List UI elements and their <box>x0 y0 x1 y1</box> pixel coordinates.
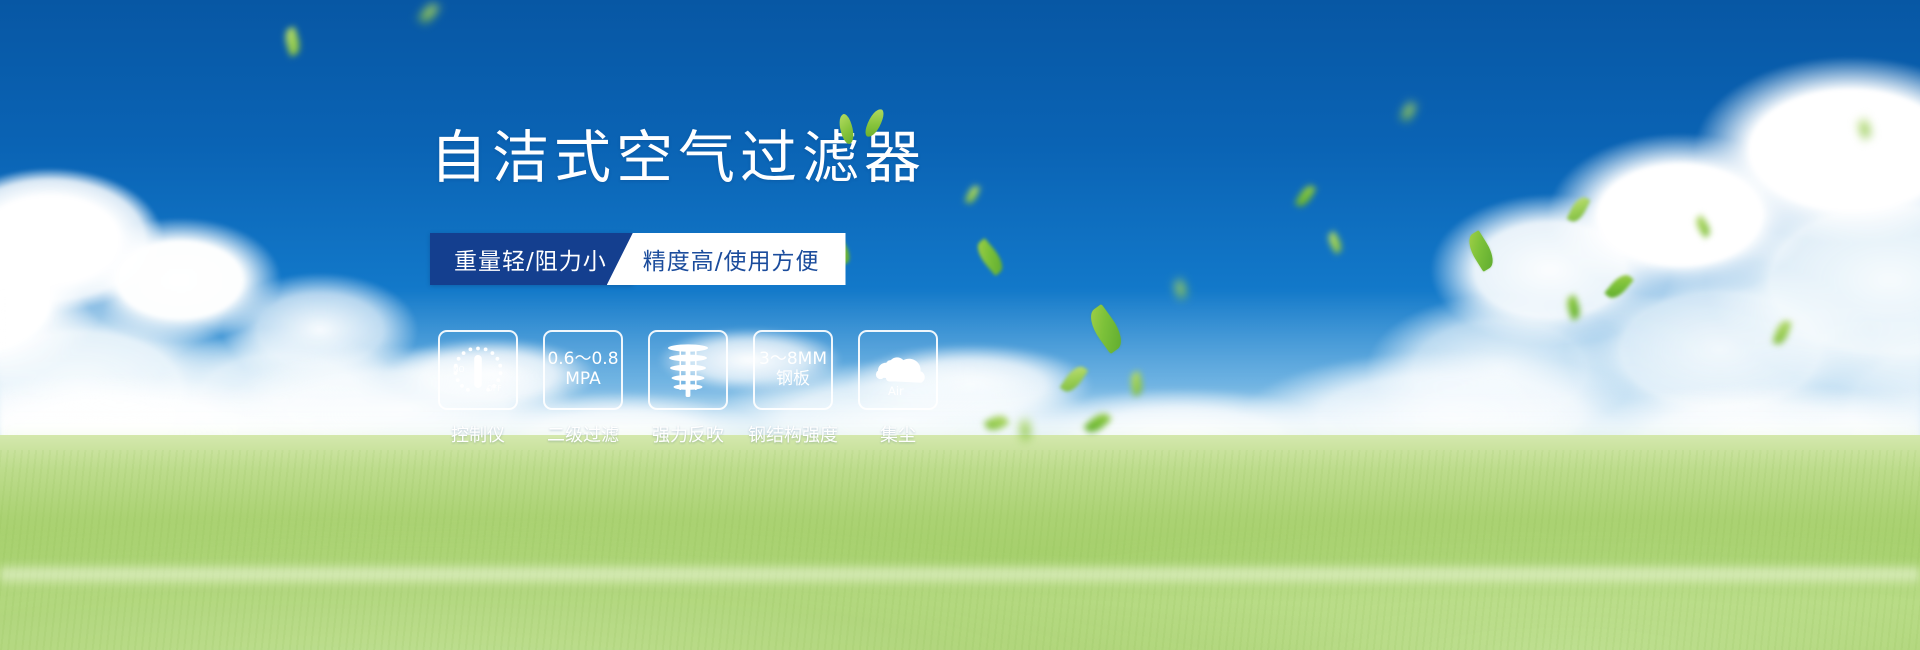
feature-item-controller[interactable]: NO OFF 控制仪 <box>438 330 518 447</box>
feature-box-controller[interactable]: NO OFF <box>438 330 518 410</box>
leaf-shape-right <box>864 107 886 140</box>
gauge-label-off: OFF <box>487 384 502 393</box>
banner-content: 自洁式空气过滤器 重量轻/阻力小 精度高/使用方便 <box>0 0 1920 650</box>
pressure-text-icon: 0.6～0.8 MPA <box>547 350 618 389</box>
feature-box-steel-strength[interactable]: 3～8MM 钢板 <box>753 330 833 410</box>
pressure-value: 0.6～0.8 <box>547 350 618 370</box>
feature-label-steel-strength: 钢结构强度 <box>748 421 838 447</box>
feature-icon-row: NO OFF 控制仪 0.6～0.8 MPA 二级过滤 <box>438 330 938 447</box>
cloud-air-label: Air <box>888 384 904 398</box>
hero-banner: 自洁式空气过滤器 重量轻/阻力小 精度高/使用方便 <box>0 0 1920 650</box>
gauge-label-no: NO <box>453 365 465 374</box>
two-leaves-icon <box>838 108 898 144</box>
steel-material: 钢板 <box>759 370 827 390</box>
cloud-air-icon: Air <box>866 340 930 400</box>
badge-highprecision-easyuse[interactable]: 精度高/使用方便 <box>607 233 846 285</box>
feature-label-controller: 控制仪 <box>451 421 505 447</box>
badge-lightweight-lowresistance[interactable]: 重量轻/阻力小 <box>430 233 633 285</box>
leaf-shape-left <box>835 113 858 146</box>
feature-item-two-stage-filtration[interactable]: 0.6～0.8 MPA 二级过滤 <box>543 330 623 447</box>
feature-label-dust-collection: 集尘 <box>880 421 916 447</box>
feature-label-pulse-jet-cleaning: 强力反吹 <box>652 421 724 447</box>
steel-plate-text-icon: 3～8MM 钢板 <box>759 350 827 389</box>
feature-item-dust-collection[interactable]: Air 集尘 <box>858 330 938 447</box>
filter-cartridge-icon <box>659 339 717 401</box>
gauge-dial-icon: NO OFF <box>446 338 510 402</box>
feature-item-steel-strength[interactable]: 3～8MM 钢板 钢结构强度 <box>753 330 833 447</box>
steel-thickness: 3～8MM <box>759 350 827 370</box>
tagline-badges: 重量轻/阻力小 精度高/使用方便 <box>430 233 846 285</box>
feature-label-two-stage-filtration: 二级过滤 <box>547 421 619 447</box>
feature-box-dust-collection[interactable]: Air <box>858 330 938 410</box>
feature-item-pulse-jet-cleaning[interactable]: 强力反吹 <box>648 330 728 447</box>
feature-box-pulse-jet-cleaning[interactable] <box>648 330 728 410</box>
pressure-unit: MPA <box>547 370 618 390</box>
feature-box-two-stage-filtration[interactable]: 0.6～0.8 MPA <box>543 330 623 410</box>
